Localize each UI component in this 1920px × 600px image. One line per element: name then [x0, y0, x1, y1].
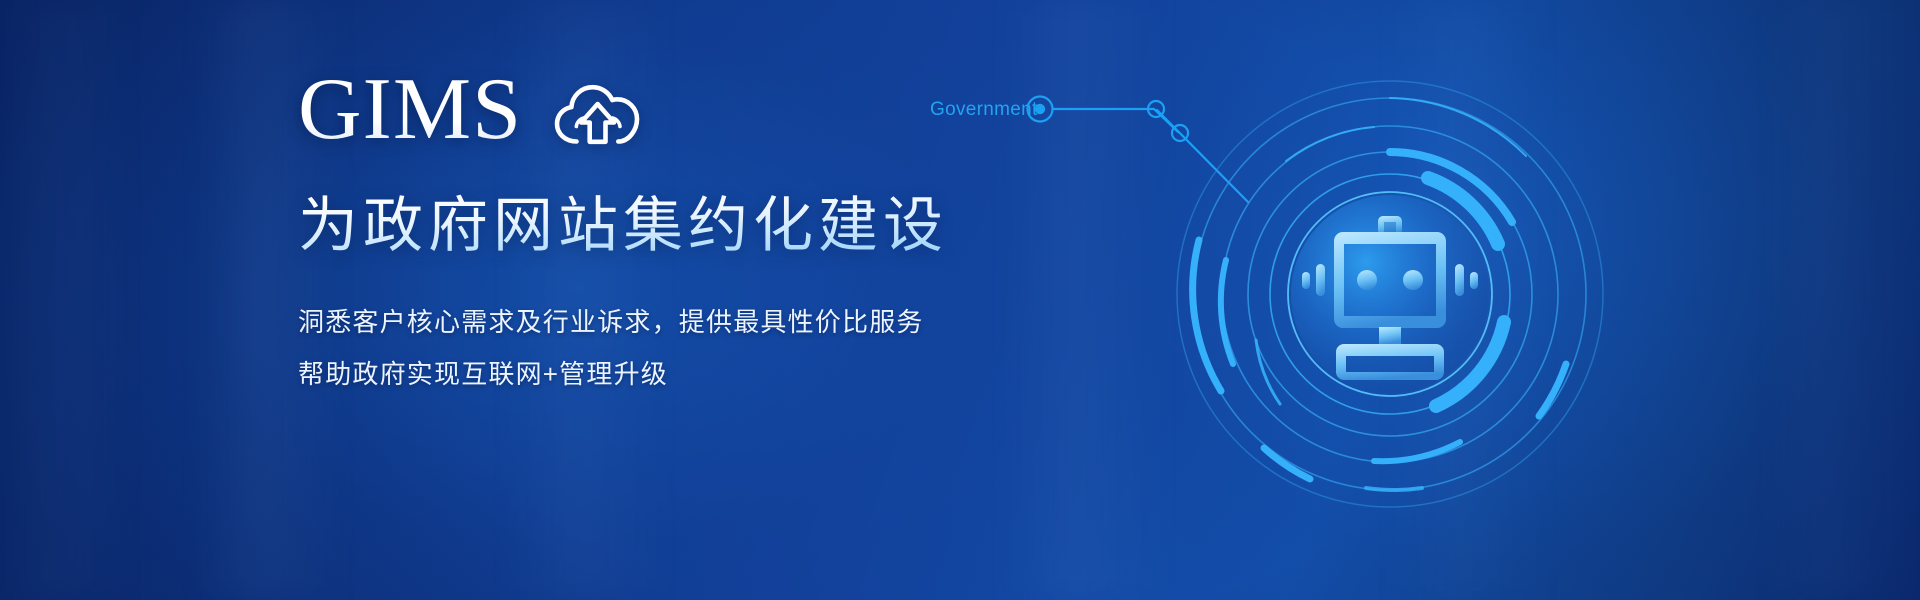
hero-content: GIMS 为政府网站集约化建设 洞悉客户核心需求及行业诉求，提供最具性价比服务 … [298, 62, 998, 389]
page-title: 为政府网站集约化建设 [298, 192, 998, 260]
hero-banner: GIMS 为政府网站集约化建设 洞悉客户核心需求及行业诉求，提供最具性价比服务 … [0, 0, 1920, 600]
subcopy-line-1: 洞悉客户核心需求及行业诉求，提供最具性价比服务 [298, 308, 998, 337]
cloud-upload-icon [552, 81, 644, 152]
hero-subcopy: 洞悉客户核心需求及行业诉求，提供最具性价比服务 帮助政府实现互联网+管理升级 [298, 308, 998, 388]
government-node-label: Government [930, 99, 1038, 121]
brand-row: GIMS [298, 62, 998, 158]
tech-ring-icon [1160, 64, 1620, 524]
subcopy-line-2: 帮助政府实现互联网+管理升级 [298, 360, 998, 389]
tech-ring-graphic [1160, 64, 1620, 524]
brand-title: GIMS [298, 66, 522, 154]
